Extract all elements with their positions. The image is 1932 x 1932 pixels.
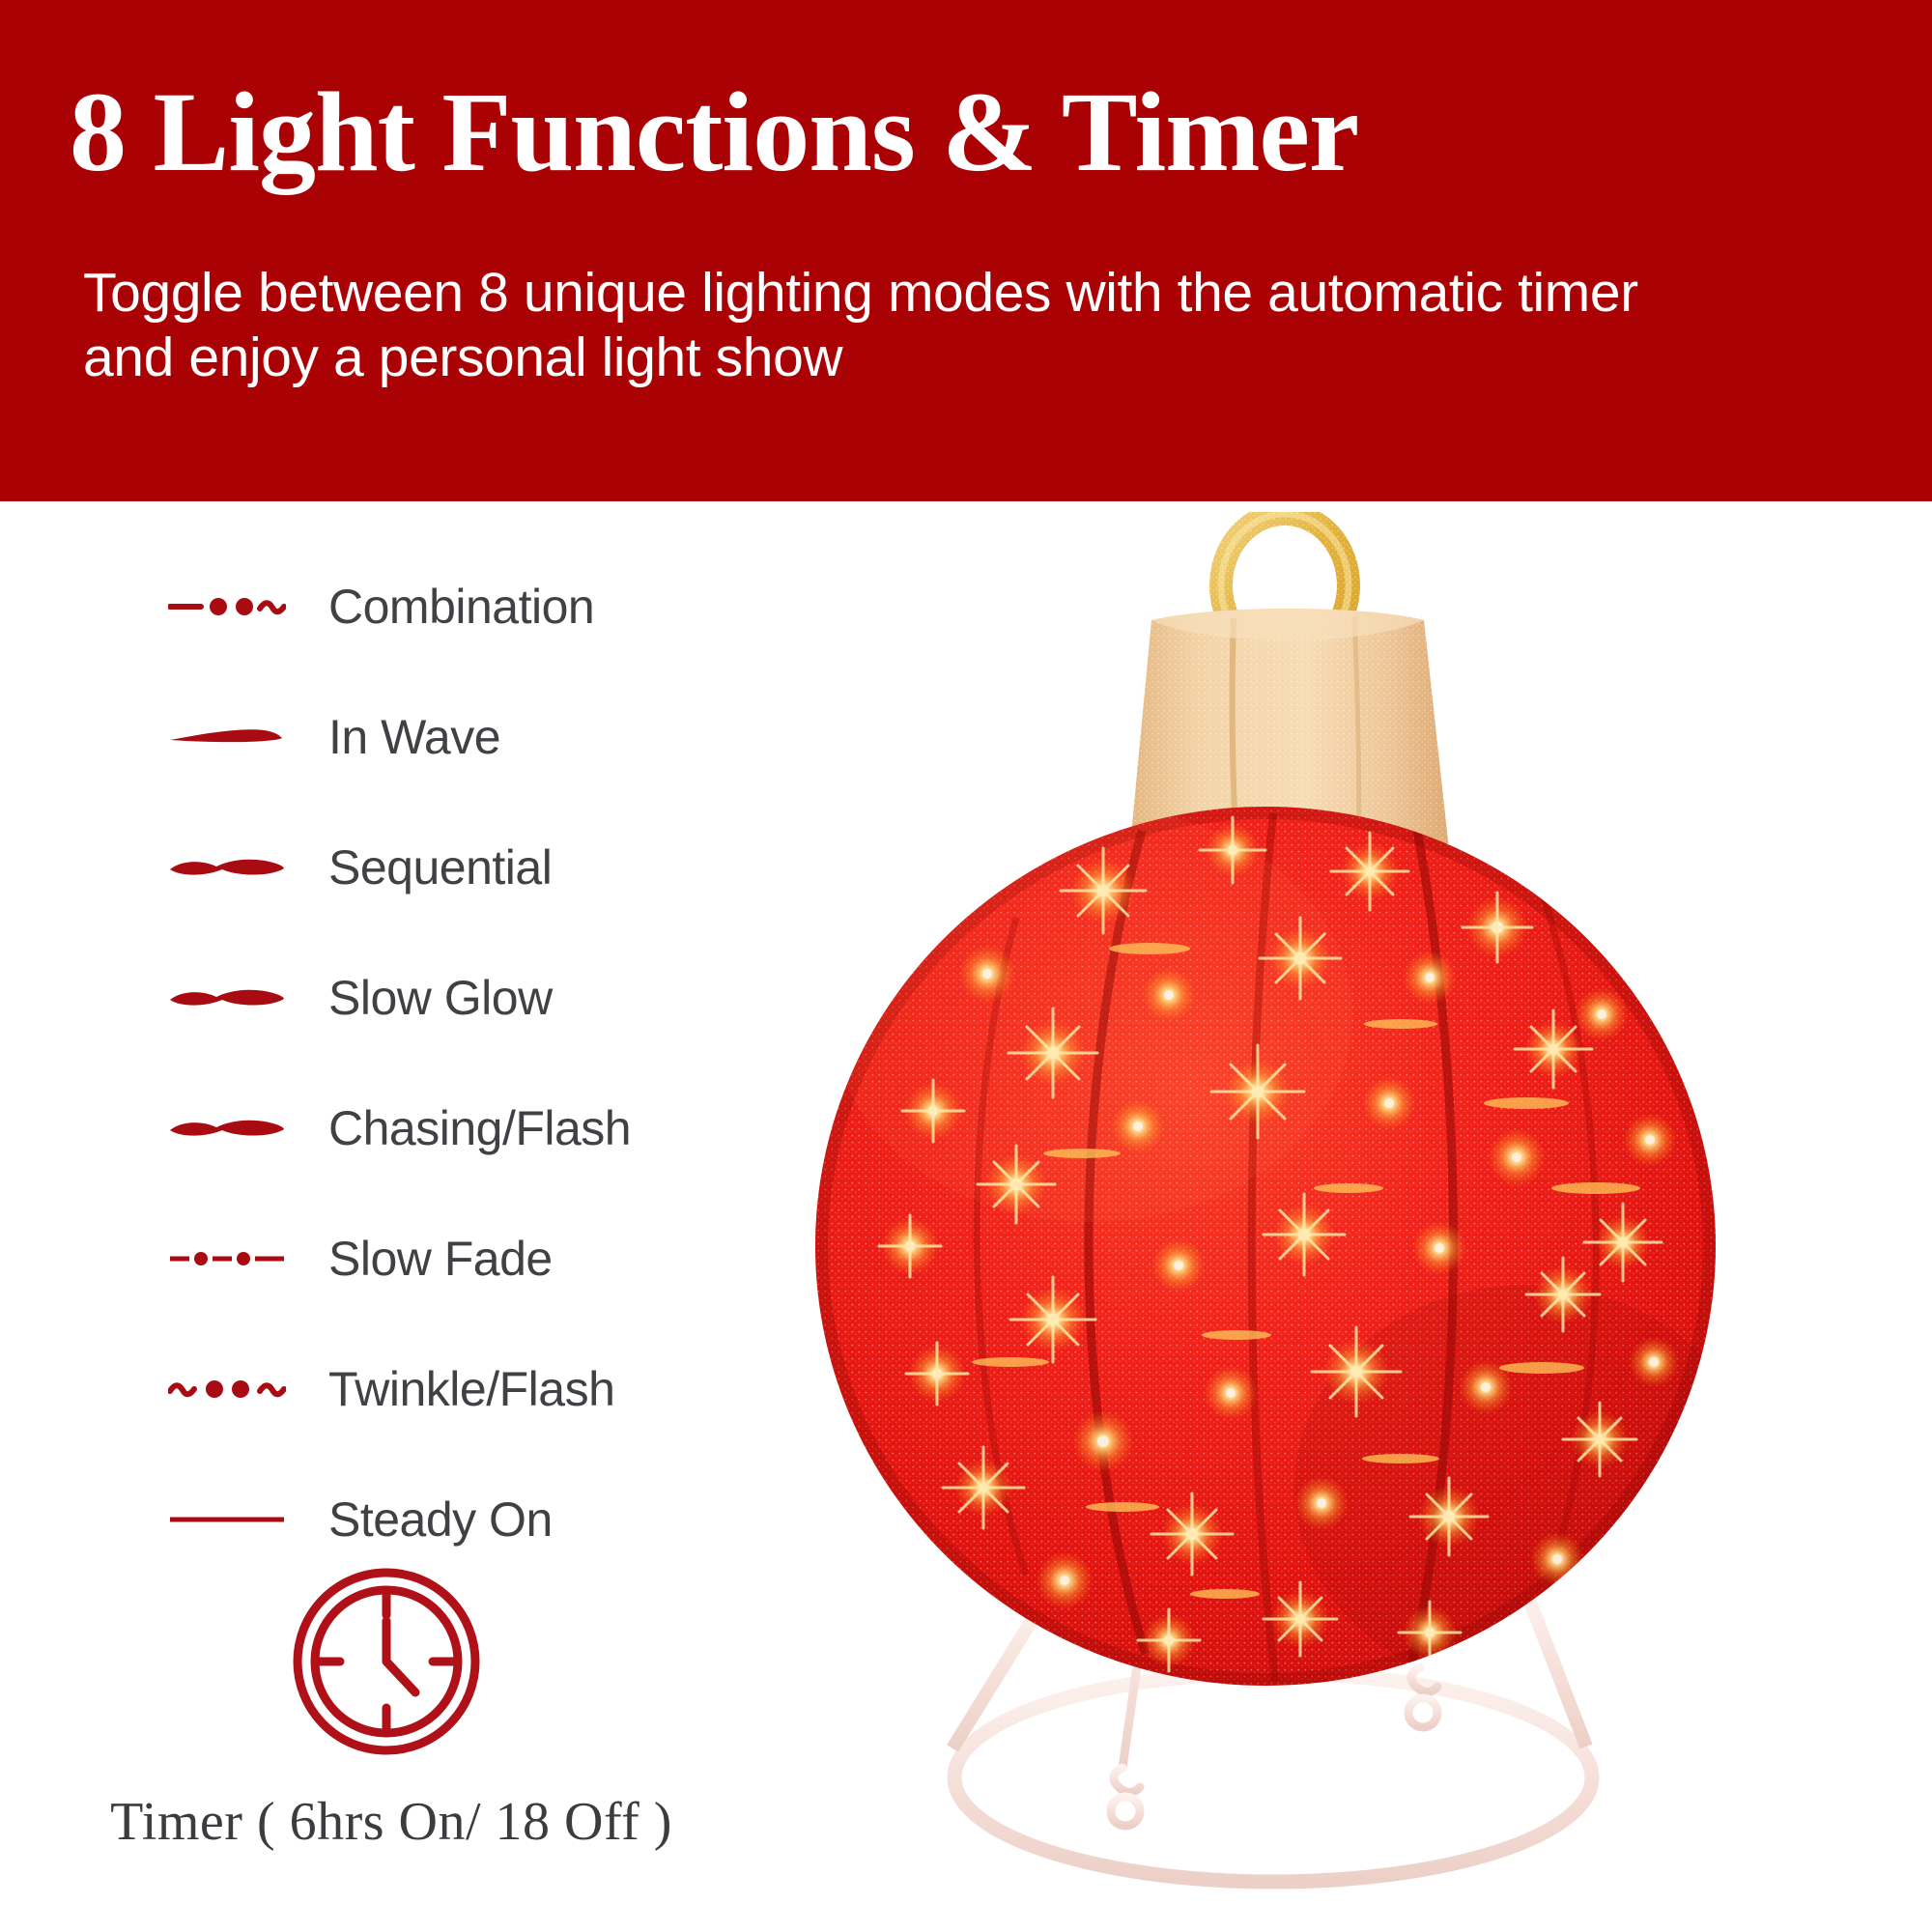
list-item-label: Chasing/Flash — [328, 1100, 631, 1156]
dash-dot-dash-dot-dash-icon — [164, 1242, 290, 1275]
list-item: Chasing/Flash — [0, 1063, 734, 1193]
double-lens-icon — [164, 851, 290, 884]
double-lens-icon — [164, 1112, 290, 1145]
lighted-red-christmas-ornament-image — [763, 512, 1932, 1932]
solid-line-icon — [164, 1503, 290, 1536]
timer-section: Timer ( 6hrs On/ 18 Off ) — [0, 1565, 792, 1853]
list-item-label: Steady On — [328, 1492, 553, 1548]
list-item: Sequential — [0, 802, 734, 932]
list-item: In Wave — [0, 671, 734, 802]
list-item-label: Twinkle/Flash — [328, 1361, 614, 1417]
clock-icon — [0, 1565, 782, 1758]
single-taper-lens-icon — [164, 721, 290, 753]
list-item: Slow Glow — [0, 932, 734, 1063]
list-item-label: In Wave — [328, 709, 500, 765]
list-item: Twinkle/Flash — [0, 1323, 734, 1454]
timer-caption: Timer ( 6hrs On/ 18 Off ) — [0, 1791, 792, 1853]
list-item-label: Slow Glow — [328, 970, 553, 1026]
page-subtitle: Toggle between 8 unique lighting modes w… — [83, 261, 1648, 391]
list-item: Combination — [0, 541, 734, 671]
dash-dot-dot-wave-icon — [164, 590, 290, 623]
double-lens-icon — [164, 981, 290, 1014]
list-item-label: Slow Fade — [328, 1231, 553, 1287]
list-item-label: Combination — [328, 579, 594, 635]
list-item-label: Sequential — [328, 839, 552, 895]
ornament-ball — [811, 802, 1758, 1710]
list-item: Slow Fade — [0, 1193, 734, 1323]
page-title: 8 Light Functions & Timer — [70, 75, 1358, 189]
header-banner: 8 Light Functions & Timer Toggle between… — [0, 0, 1932, 501]
light-function-list: Combination In Wave Sequential Slow Glow — [0, 541, 734, 1584]
wave-dot-dot-wave-icon — [164, 1373, 290, 1406]
